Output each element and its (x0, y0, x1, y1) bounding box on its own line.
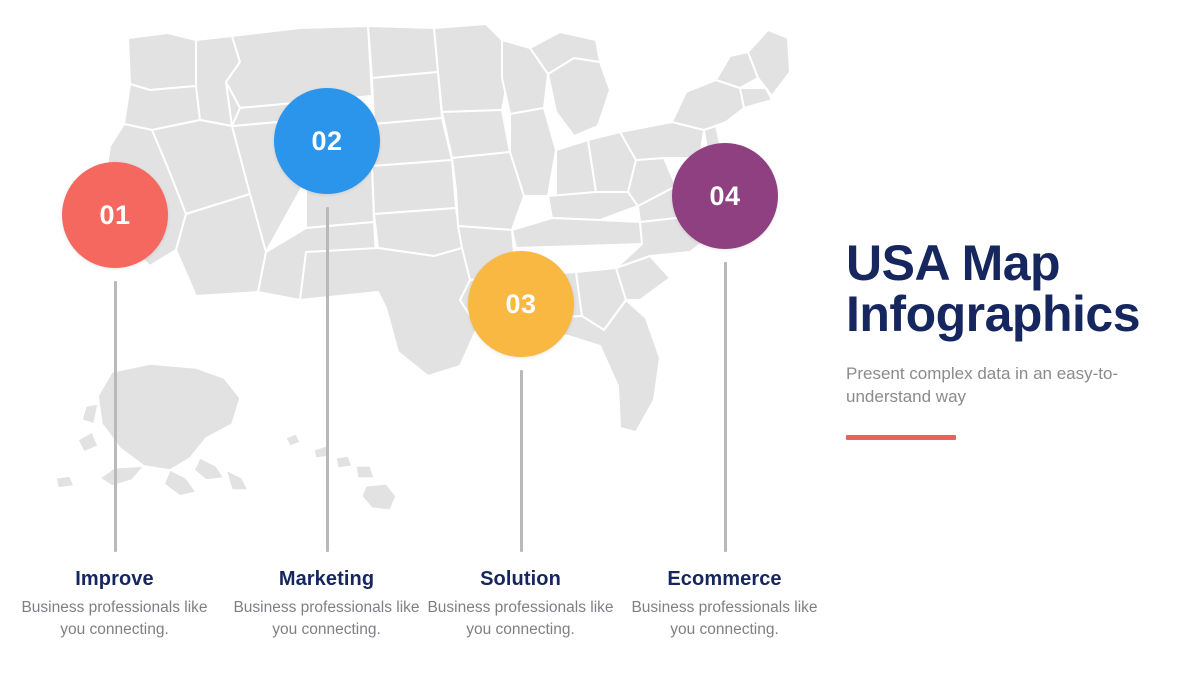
label-block-ecommerce[interactable]: Ecommerce Business professionals like yo… (617, 568, 832, 641)
map-marker-02-number: 02 (311, 126, 342, 157)
state-hawaii (286, 434, 396, 510)
label-row: Improve Business professionals like you … (0, 560, 840, 675)
label-title-improve: Improve (7, 568, 222, 590)
state-massachusetts (740, 88, 772, 108)
state-kansas (372, 160, 456, 214)
map-marker-03[interactable]: 03 (468, 251, 574, 357)
label-block-improve[interactable]: Improve Business professionals like you … (7, 568, 222, 641)
map-marker-02[interactable]: 02 (274, 88, 380, 194)
label-title-ecommerce: Ecommerce (617, 568, 832, 590)
label-block-solution[interactable]: Solution Business professionals like you… (413, 568, 628, 641)
map-marker-04[interactable]: 04 (672, 143, 778, 249)
label-title-solution: Solution (413, 568, 628, 590)
label-desc-improve: Business professionals like you connecti… (7, 597, 222, 641)
state-new-york (672, 80, 744, 130)
state-minnesota (434, 24, 508, 112)
page-subtitle: Present complex data in an easy-to-under… (846, 362, 1146, 409)
usa-map-graphic (0, 0, 840, 560)
state-maine (748, 30, 790, 96)
slide-canvas: 01 02 03 04 Improve Business professiona… (0, 0, 1200, 675)
connector-line-03 (520, 370, 523, 552)
state-kentucky (548, 192, 638, 220)
connector-line-04 (724, 262, 727, 552)
state-north-dakota (368, 26, 438, 78)
label-desc-marketing: Business professionals like you connecti… (219, 597, 434, 641)
state-south-dakota (372, 72, 442, 124)
map-marker-04-number: 04 (709, 181, 740, 212)
map-marker-01-number: 01 (99, 200, 130, 231)
map-marker-01[interactable]: 01 (62, 162, 168, 268)
accent-underline (846, 435, 956, 440)
state-alaska (56, 364, 248, 496)
state-washington (128, 33, 200, 90)
page-title: USA Map Infographics (846, 238, 1176, 340)
text-panel: USA Map Infographics Present complex dat… (846, 238, 1176, 440)
map-marker-03-number: 03 (505, 289, 536, 320)
state-nebraska (372, 118, 452, 166)
state-tennessee (512, 218, 642, 248)
label-title-marketing: Marketing (219, 568, 434, 590)
connector-line-02 (326, 207, 329, 552)
state-iowa (442, 110, 510, 158)
connector-line-01 (114, 281, 117, 552)
label-block-marketing[interactable]: Marketing Business professionals like yo… (219, 568, 434, 641)
map-panel: 01 02 03 04 (0, 0, 840, 560)
label-desc-solution: Business professionals like you connecti… (413, 597, 628, 641)
state-michigan (548, 58, 610, 136)
label-desc-ecommerce: Business professionals like you connecti… (617, 597, 832, 641)
